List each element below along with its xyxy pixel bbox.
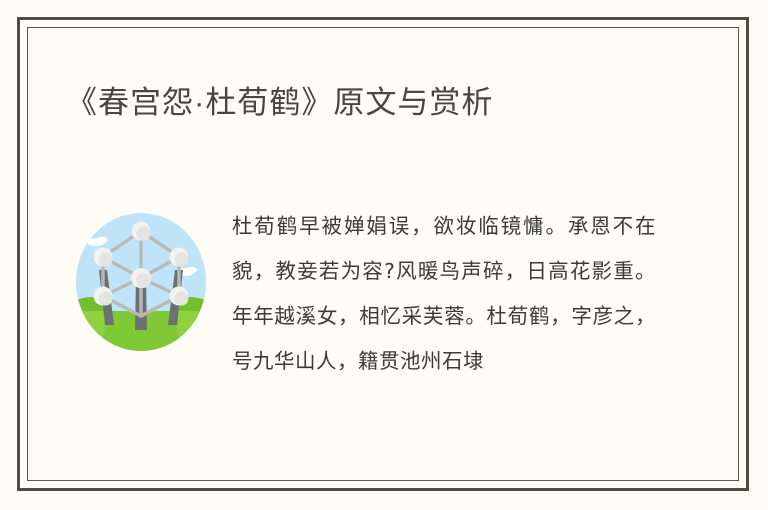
atomium-landmark-icon	[74, 212, 208, 352]
page-title: 《春宫怨·杜荀鹤》原文与赏析	[66, 81, 706, 125]
article-body-text: 杜荀鹤早被婵娟误，欲妆临镜慵。承恩不在貌，教妾若为容?风暖鸟声碎，日高花影重。年…	[232, 204, 656, 460]
content-row: 杜荀鹤早被婵娟误，欲妆临镜慵。承恩不在貌，教妾若为容?风暖鸟声碎，日高花影重。年…	[0, 196, 768, 466]
article-card: 《春宫怨·杜荀鹤》原文与赏析	[0, 0, 768, 510]
